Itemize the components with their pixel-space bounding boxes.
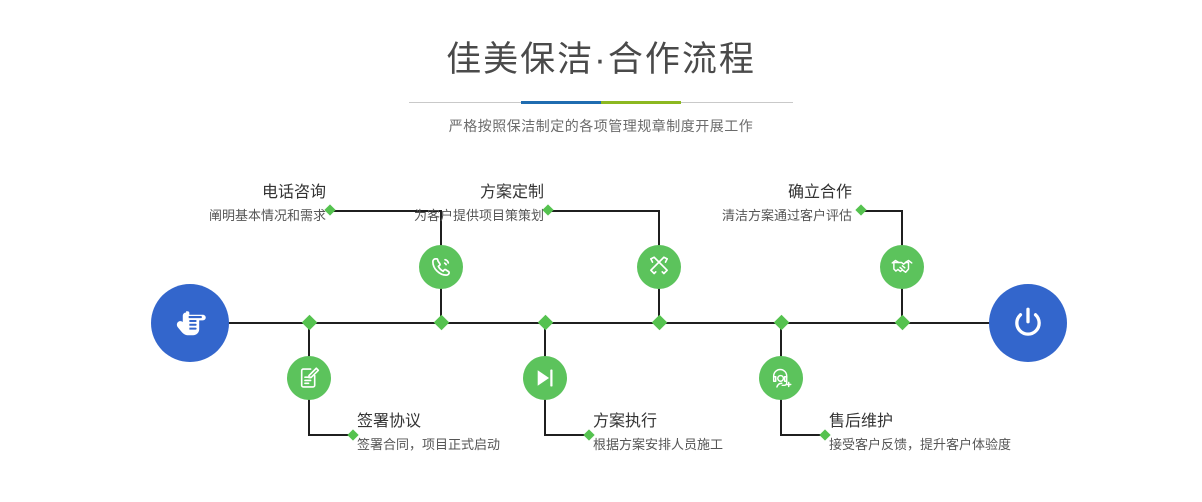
header: 佳美保洁·合作流程 严格按照保洁制定的各项管理规章制度开展工作 xyxy=(0,0,1202,136)
step-label-2: 签署协议 签署合同，项目正式启动 xyxy=(357,412,607,454)
pointing-hand-icon xyxy=(169,302,211,344)
timeline-start-node xyxy=(151,284,229,362)
step-icon-badge[interactable] xyxy=(759,356,803,400)
axis-marker xyxy=(651,315,667,331)
step-label-1: 电话咨询 阐明基本情况和需求 xyxy=(81,183,326,225)
connector-horizontal xyxy=(861,210,903,212)
step-label-6: 售后维护 接受客户反馈，提升客户体验度 xyxy=(829,412,1099,454)
label-marker xyxy=(542,204,553,215)
support-agent-add-icon xyxy=(768,365,794,391)
step-title: 电话咨询 xyxy=(81,183,326,203)
step-desc: 为客户提供项目策策划 xyxy=(299,207,544,225)
step-label-3: 方案定制 为客户提供项目策策划 xyxy=(299,183,544,225)
page-title: 佳美保洁·合作流程 xyxy=(0,0,1202,80)
step-title: 售后维护 xyxy=(829,412,1099,432)
handshake-icon xyxy=(889,254,915,280)
step-desc: 签署合同，项目正式启动 xyxy=(357,436,607,454)
step-title: 方案定制 xyxy=(299,183,544,203)
title-divider xyxy=(409,101,793,104)
document-edit-icon xyxy=(296,365,322,391)
page-subtitle: 严格按照保洁制定的各项管理规章制度开展工作 xyxy=(0,104,1202,136)
step-title: 签署协议 xyxy=(357,412,607,432)
label-marker xyxy=(855,204,866,215)
axis-marker xyxy=(773,315,789,331)
divider-green-segment xyxy=(601,101,681,104)
step-desc: 清洁方案通过客户评估 xyxy=(607,207,852,225)
axis-marker xyxy=(433,315,449,331)
axis-marker xyxy=(301,315,317,331)
axis-marker xyxy=(537,315,553,331)
step-icon-badge[interactable] xyxy=(419,245,463,289)
pencil-ruler-icon xyxy=(646,254,672,280)
step-label-5: 确立合作 清洁方案通过客户评估 xyxy=(607,183,852,225)
step-desc: 接受客户反馈，提升客户体验度 xyxy=(829,436,1099,454)
divider-blue-segment xyxy=(521,101,601,104)
step-title: 方案执行 xyxy=(593,412,843,432)
axis-marker xyxy=(894,315,910,331)
play-execute-icon xyxy=(532,365,558,391)
step-icon-badge[interactable] xyxy=(287,356,331,400)
flowchart-canvas: 佳美保洁·合作流程 严格按照保洁制定的各项管理规章制度开展工作 xyxy=(0,0,1202,502)
power-icon xyxy=(1007,302,1049,344)
step-icon-badge[interactable] xyxy=(880,245,924,289)
process-timeline: 电话咨询 阐明基本情况和需求 xyxy=(0,155,1202,502)
step-desc: 根据方案安排人员施工 xyxy=(593,436,843,454)
step-icon-badge[interactable] xyxy=(637,245,681,289)
step-desc: 阐明基本情况和需求 xyxy=(81,207,326,225)
step-icon-badge[interactable] xyxy=(523,356,567,400)
step-title: 确立合作 xyxy=(607,183,852,203)
step-label-4: 方案执行 根据方案安排人员施工 xyxy=(593,412,843,454)
phone-call-icon xyxy=(428,254,454,280)
timeline-end-node xyxy=(989,284,1067,362)
